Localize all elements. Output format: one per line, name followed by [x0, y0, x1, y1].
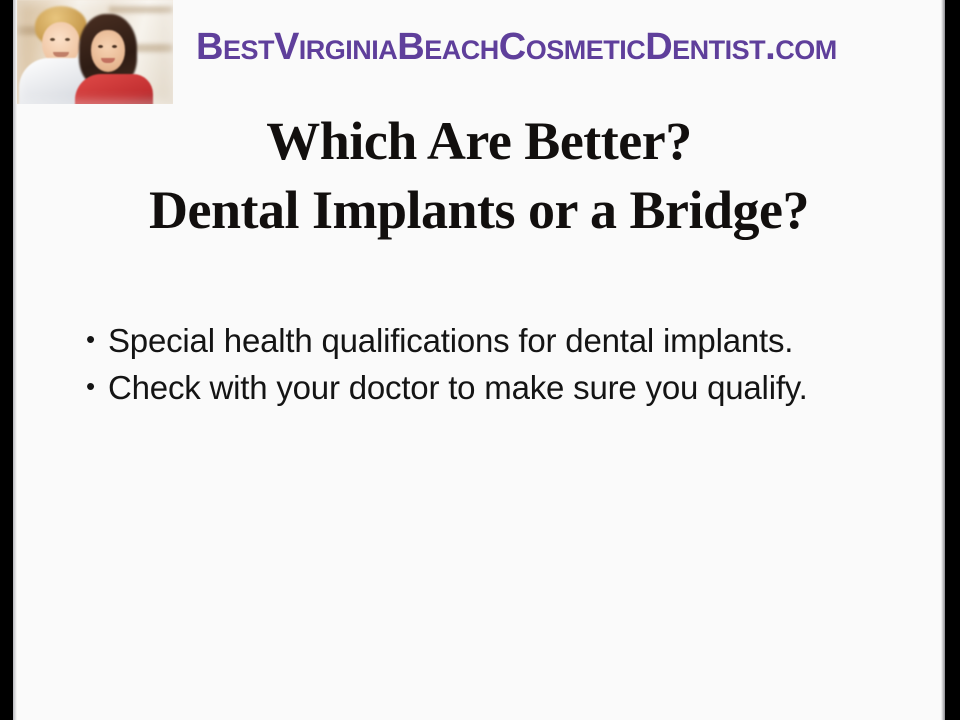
bullet-list: • Special health qualifications for dent… — [86, 318, 906, 412]
man-smile — [53, 52, 69, 57]
bullet-text: Check with your doctor to make sure you … — [108, 365, 808, 412]
bullet-text: Special health qualifications for dental… — [108, 318, 793, 365]
slide-heading: Which Are Better? Dental Implants or a B… — [13, 112, 945, 240]
bullet-point-icon: • — [86, 365, 108, 407]
list-item: • Special health qualifications for dent… — [86, 318, 906, 365]
woman-eye-right — [112, 45, 117, 48]
woman-face — [91, 30, 125, 72]
list-item: • Check with your doctor to make sure yo… — [86, 365, 906, 412]
header-couple-photo — [17, 0, 173, 104]
pillarbox-left — [0, 0, 13, 720]
man-eye-left — [50, 38, 55, 41]
photo-shelf-detail — [109, 6, 173, 13]
woman-eye-left — [98, 45, 103, 48]
heading-line-1: Which Are Better? — [13, 112, 945, 170]
video-slide: BestVirginiaBeachCosmeticDentist.com Whi… — [0, 0, 960, 720]
man-eye-right — [65, 38, 70, 41]
heading-line-2: Dental Implants or a Bridge? — [13, 181, 945, 239]
canvas-left-edge-shading — [13, 0, 17, 720]
bullet-point-icon: • — [86, 318, 108, 360]
woman-red-top — [75, 74, 153, 104]
pillarbox-right — [945, 0, 960, 720]
site-domain-title: BestVirginiaBeachCosmeticDentist.com — [196, 28, 912, 66]
